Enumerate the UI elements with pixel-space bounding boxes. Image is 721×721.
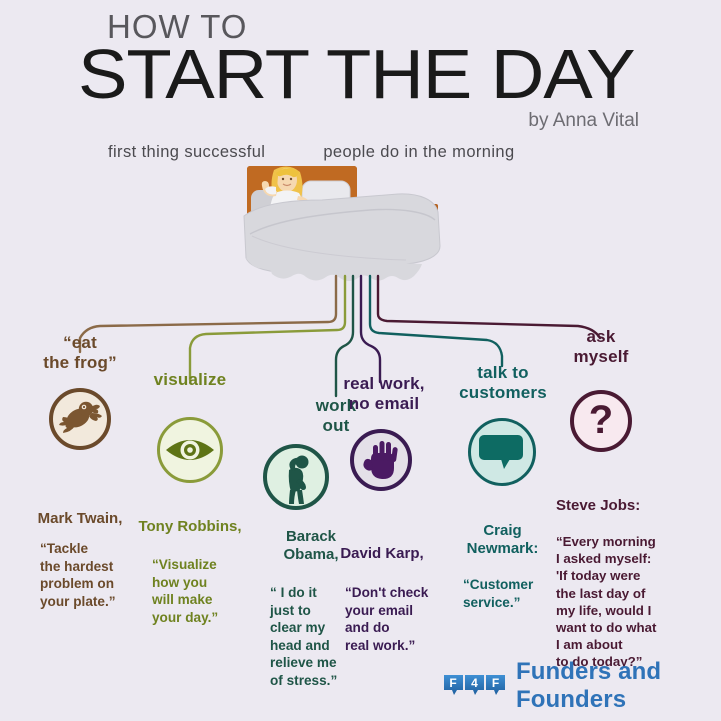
eye-icon-node[interactable] <box>157 417 223 483</box>
branch-label-visualize: visualize <box>130 370 250 390</box>
footer-logo[interactable]: F 4 F Funders and Founders <box>443 669 721 703</box>
person-name-tony-robbins: Tony Robbins, <box>130 518 250 536</box>
quote-steve-jobs: “Every morning I asked myself: 'If today… <box>556 533 684 671</box>
branch-label-real-work: real work, no email <box>325 374 443 414</box>
person-name-craig-newmark: Craig Newmark: <box>445 522 560 557</box>
quote-david-karp: “Don't check your email and do real work… <box>345 584 455 654</box>
open-hand-icon <box>354 433 408 487</box>
stretching-person-icon-node[interactable] <box>263 444 329 510</box>
frog-icon <box>53 392 107 446</box>
page-title: START THE DAY <box>78 38 635 110</box>
subtitle-right: people do in the morning <box>323 143 514 161</box>
person-name-david-karp: David Karp, <box>322 545 442 563</box>
svg-text:4: 4 <box>471 676 478 690</box>
quote-craig-newmark: “Customer service.” <box>463 576 563 611</box>
question-mark-icon-node[interactable]: ? <box>570 390 632 452</box>
frog-icon-node[interactable] <box>49 388 111 450</box>
speech-bubble-icon-node[interactable] <box>468 418 536 486</box>
funders-and-founders-mark-icon: F 4 F <box>443 673 506 700</box>
branch-label-eat-the-frog: “eat the frog” <box>20 333 140 373</box>
subtitle-left: first thing successful <box>108 143 265 161</box>
branch-label-ask-myself: ask myself <box>545 327 657 367</box>
funders-and-founders-wordmark: Funders and Founders <box>516 658 721 714</box>
branch-label-talk-to-customers: talk to customers <box>444 363 562 403</box>
person-name-mark-twain: Mark Twain, <box>20 510 140 528</box>
svg-text:F: F <box>449 676 456 690</box>
question-mark-icon: ? <box>574 394 628 448</box>
open-hand-icon-node[interactable] <box>350 429 412 491</box>
quote-tony-robbins: “Visualize how you will make your day.” <box>152 556 262 626</box>
speech-bubble-icon <box>471 421 531 481</box>
byline: by Anna Vital <box>528 110 639 132</box>
eye-icon <box>160 420 220 480</box>
bed-illustration <box>230 160 460 295</box>
svg-text:F: F <box>492 676 499 690</box>
quote-mark-twain: “Tackle the hardest problem on your plat… <box>40 540 150 610</box>
stretching-person-icon <box>267 448 325 506</box>
infographic-canvas: HOW TO START THE DAY by Anna Vital first… <box>0 0 721 721</box>
svg-text:?: ? <box>589 398 613 442</box>
person-name-steve-jobs: Steve Jobs: <box>556 497 676 515</box>
